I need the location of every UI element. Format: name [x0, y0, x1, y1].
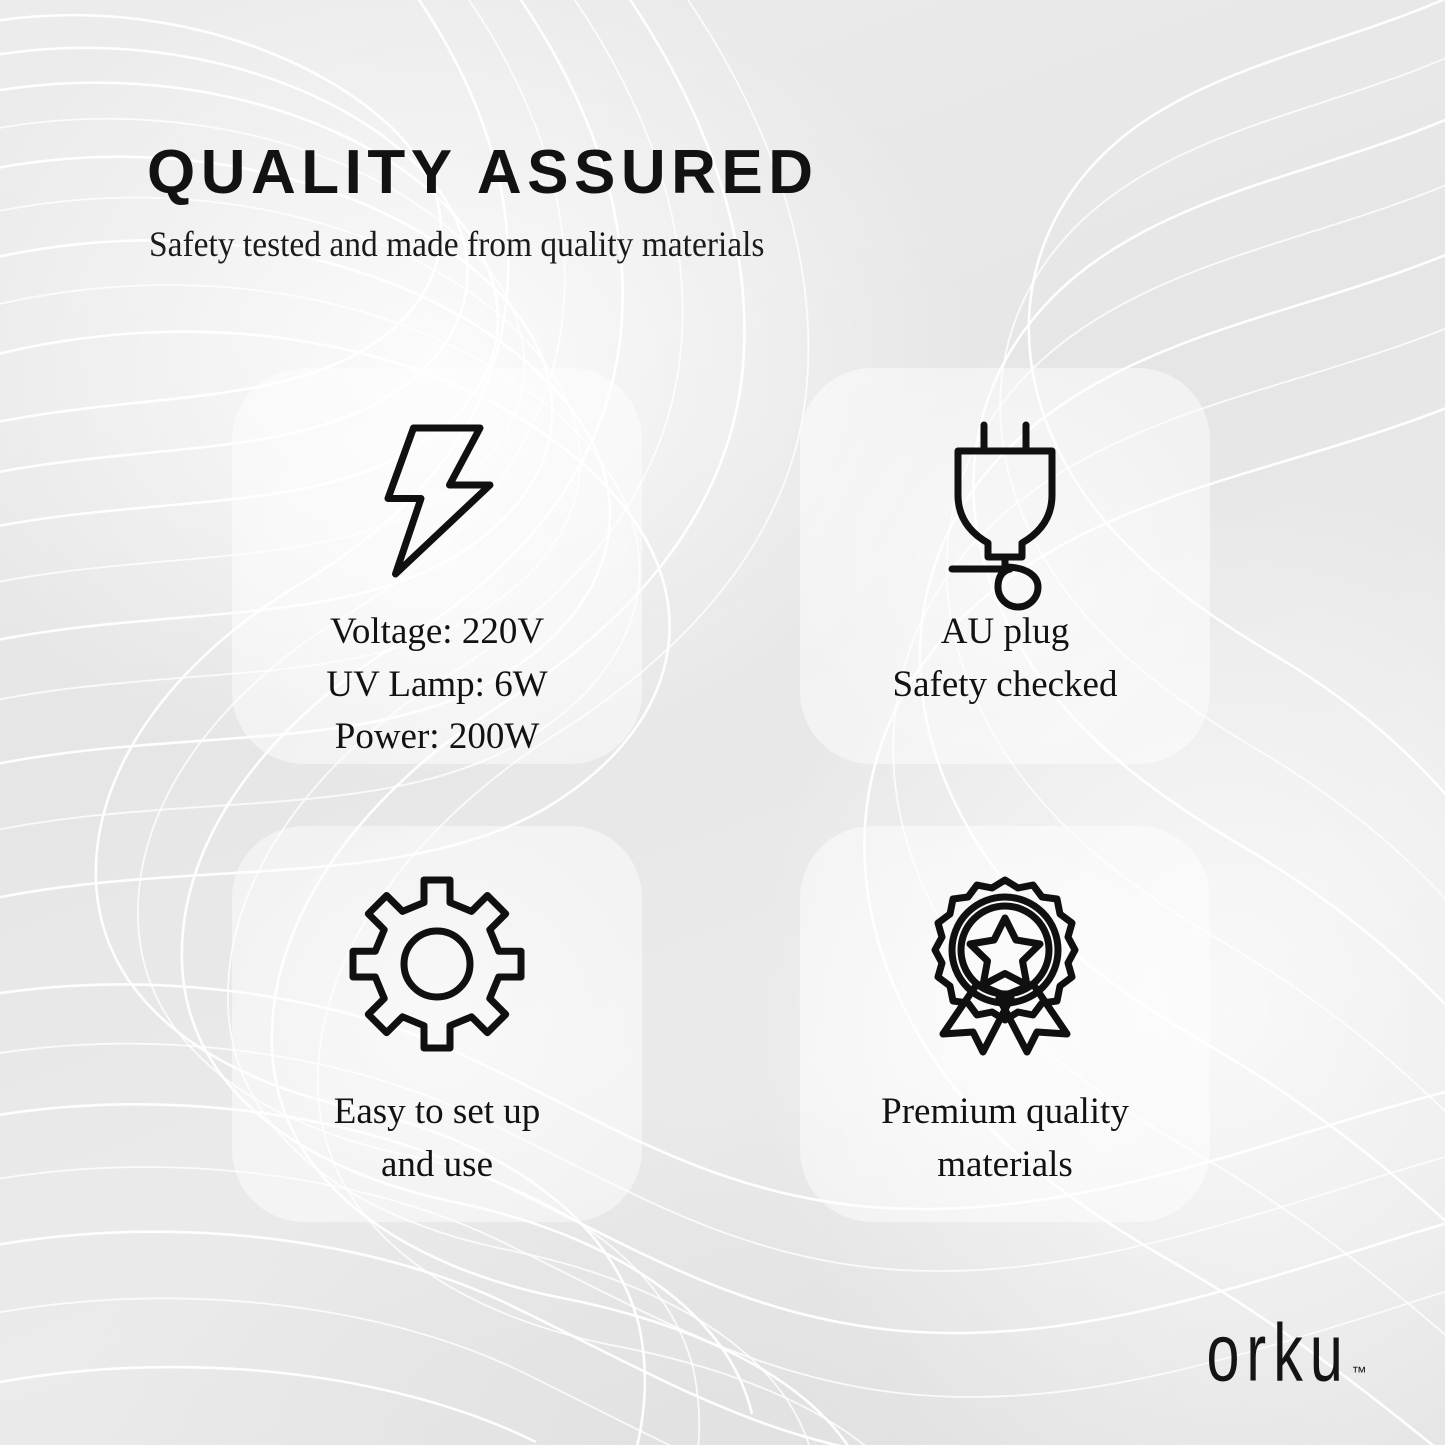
brand-trademark-symbol: ™ — [1352, 1364, 1368, 1381]
brand-logo: orku ™ — [1166, 1325, 1367, 1387]
feature-line: Easy to set up — [334, 1086, 541, 1139]
feature-line: Premium quality — [881, 1086, 1129, 1139]
gear-icon — [363, 864, 511, 1064]
feature-line: Safety checked — [893, 659, 1118, 712]
feature-line: AU plug — [893, 606, 1118, 659]
feature-card-voltage: Voltage: 220V UV Lamp: 6W Power: 200W — [232, 368, 642, 764]
feature-line: Power: 200W — [326, 711, 547, 764]
feature-text-plug: AU plug Safety checked — [893, 606, 1118, 711]
feature-line: Voltage: 220V — [326, 606, 547, 659]
feature-card-grid: Voltage: 220V UV Lamp: 6W Power: 200W — [232, 368, 1210, 1222]
lightning-bolt-icon — [378, 406, 496, 596]
page-subtitle: Safety tested and made from quality mate… — [149, 226, 772, 262]
feature-line: UV Lamp: 6W — [326, 659, 547, 712]
header: QUALITY ASSURED Safety tested and made f… — [147, 142, 819, 262]
feature-card-setup: Easy to set up and use — [232, 826, 642, 1222]
feature-card-plug: AU plug Safety checked — [800, 368, 1210, 764]
award-ribbon-icon — [927, 864, 1083, 1064]
feature-card-premium: Premium quality materials — [800, 826, 1210, 1222]
feature-text-voltage: Voltage: 220V UV Lamp: 6W Power: 200W — [326, 606, 547, 764]
infographic-canvas: QUALITY ASSURED Safety tested and made f… — [0, 0, 1445, 1445]
power-plug-icon — [940, 406, 1070, 596]
feature-line: and use — [334, 1139, 541, 1192]
feature-text-premium: Premium quality materials — [881, 1086, 1129, 1191]
brand-wordmark: orku — [1206, 1320, 1349, 1387]
feature-text-setup: Easy to set up and use — [334, 1086, 541, 1191]
page-title: QUALITY ASSURED — [147, 142, 819, 204]
feature-line: materials — [881, 1139, 1129, 1192]
